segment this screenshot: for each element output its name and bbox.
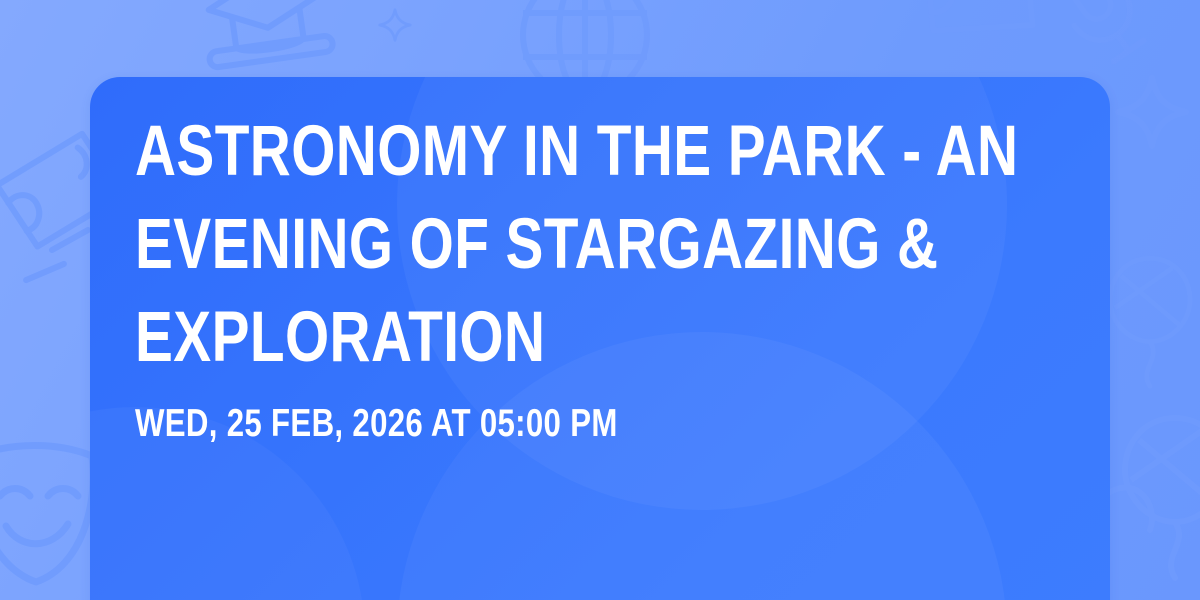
card-content: Astronomy in the Park - An Evening of St… [135,105,1070,446]
event-card: Astronomy in the Park - An Evening of St… [90,77,1110,600]
event-banner: Astronomy in the Park - An Evening of St… [0,0,1200,600]
event-date: Wed, 25 Feb, 2026 at 05:00 PM [135,384,1110,446]
event-title: Astronomy in the Park - An Evening of St… [135,105,1110,384]
